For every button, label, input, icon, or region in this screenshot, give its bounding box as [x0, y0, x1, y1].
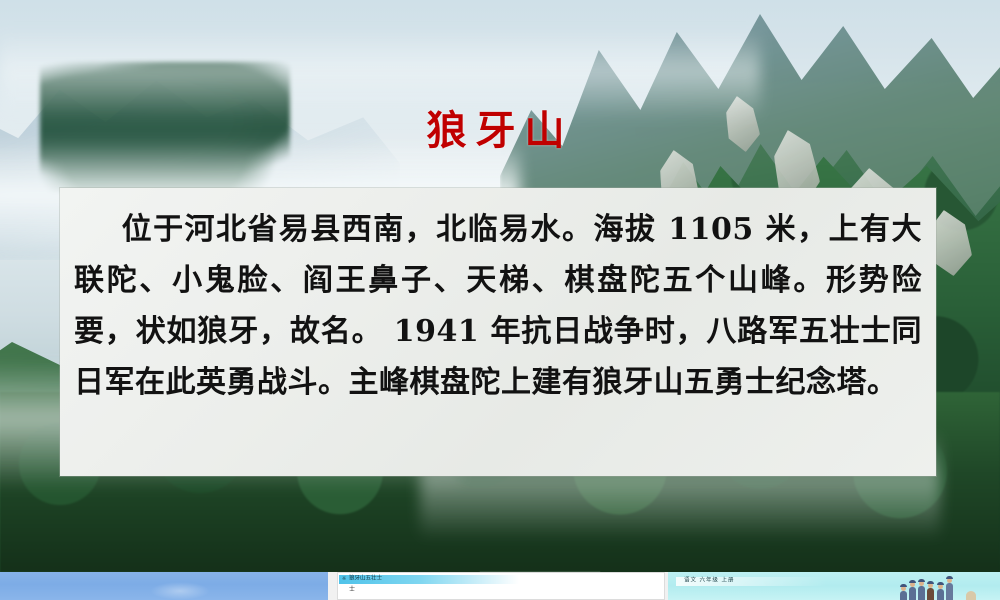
filmstrip-slide-3[interactable]: 语文 六年级 上册	[668, 572, 1000, 600]
slide-2-subtext: 士	[349, 584, 355, 593]
soldier-figure-icon	[927, 588, 934, 600]
filmstrip-slide-2[interactable]: ※ 狼牙山五壮士 士	[337, 572, 665, 600]
soldier-figure-icon	[900, 591, 907, 600]
bullet-icon: ※	[342, 575, 346, 584]
slide-filmstrip: ※ 狼牙山五壮士 士 语文 六年级 上册	[0, 572, 1000, 600]
soldier-figure-icon	[909, 587, 916, 600]
filmstrip-slide-1[interactable]	[0, 572, 328, 600]
soldier-figure-icon	[918, 586, 925, 600]
slide-sheen	[150, 582, 210, 600]
slide-title: 狼牙山	[0, 98, 1000, 156]
rock-icon	[966, 591, 976, 600]
slide-3-heading: 语文 六年级 上册	[684, 576, 734, 584]
soldier-figure-icon	[937, 589, 944, 600]
slide-stage: 狼牙山 位于河北省易县西南，北临易水。海拔 1105 米，上有大联陀、小鬼脸、阎…	[0, 0, 1000, 600]
soldier-figure-icon	[946, 583, 953, 600]
soldiers-illustration-icon	[892, 576, 978, 600]
text-panel: 位于河北省易县西南，北临易水。海拔 1105 米，上有大联陀、小鬼脸、阎王鼻子、…	[60, 188, 936, 476]
slide-2-heading: 狼牙山五壮士	[349, 574, 382, 582]
body-paragraph: 位于河北省易县西南，北临易水。海拔 1105 米，上有大联陀、小鬼脸、阎王鼻子、…	[74, 204, 922, 408]
